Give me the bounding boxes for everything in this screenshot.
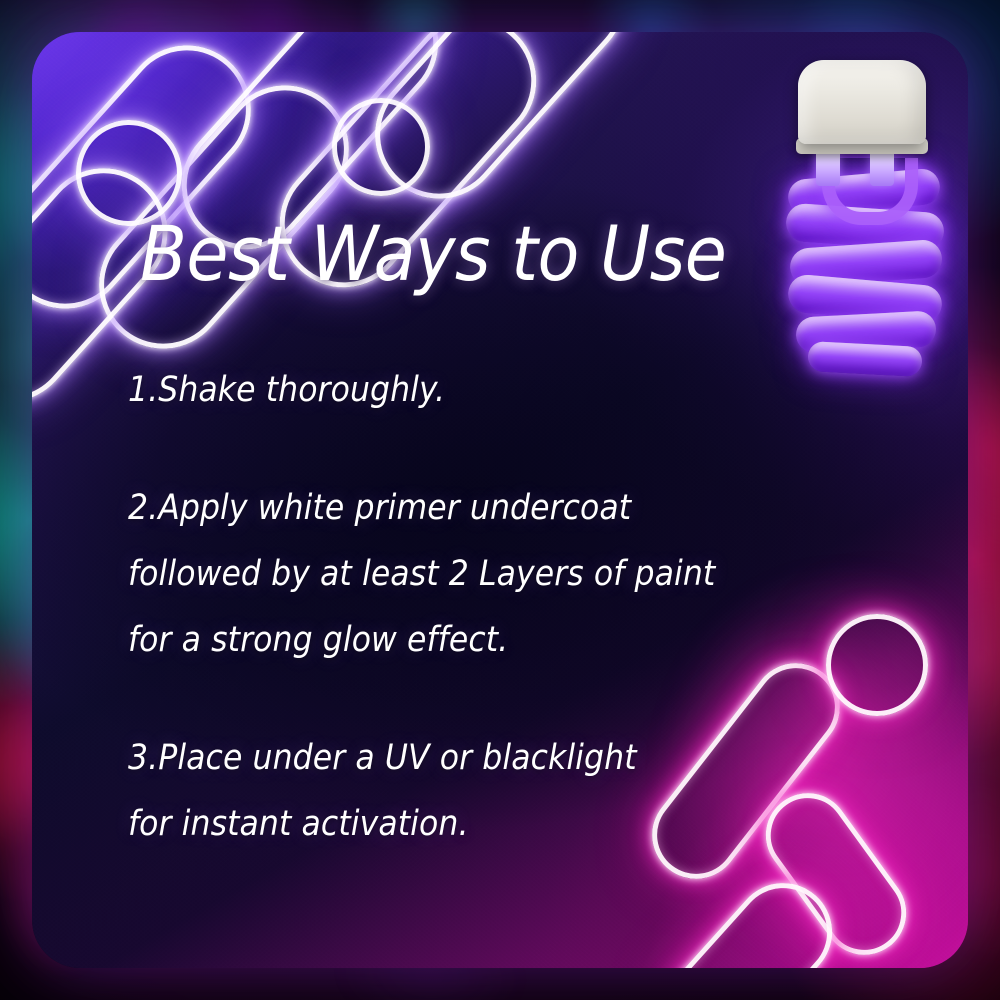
step-1: 1.Shake thoroughly. [128,357,888,423]
bulb-pin-right [870,150,894,186]
step-line: 1.Shake thoroughly. [128,357,888,423]
page-title: Best Ways to Use [140,209,726,298]
step-3: 3.Place under a UV or blacklightfor inst… [128,725,888,857]
bulb-base [798,60,926,144]
content-card: Best Ways to Use 1.Shake thoroughly.2.Ap… [32,32,968,968]
uv-blacklight-bulb-icon [774,46,968,376]
poster-canvas: Best Ways to Use 1.Shake thoroughly.2.Ap… [0,0,1000,1000]
step-line: followed by at least 2 Layers of paint [128,541,888,607]
step-line: 3.Place under a UV or blacklight [128,725,888,791]
step-line: for instant activation. [128,791,888,857]
step-line: for a strong glow effect. [128,607,888,673]
step-line: 2.Apply white primer undercoat [128,475,888,541]
steps-list: 1.Shake thoroughly.2.Apply white primer … [128,357,888,857]
bulb-pin-left [816,150,840,186]
step-2: 2.Apply white primer undercoatfollowed b… [128,475,888,673]
